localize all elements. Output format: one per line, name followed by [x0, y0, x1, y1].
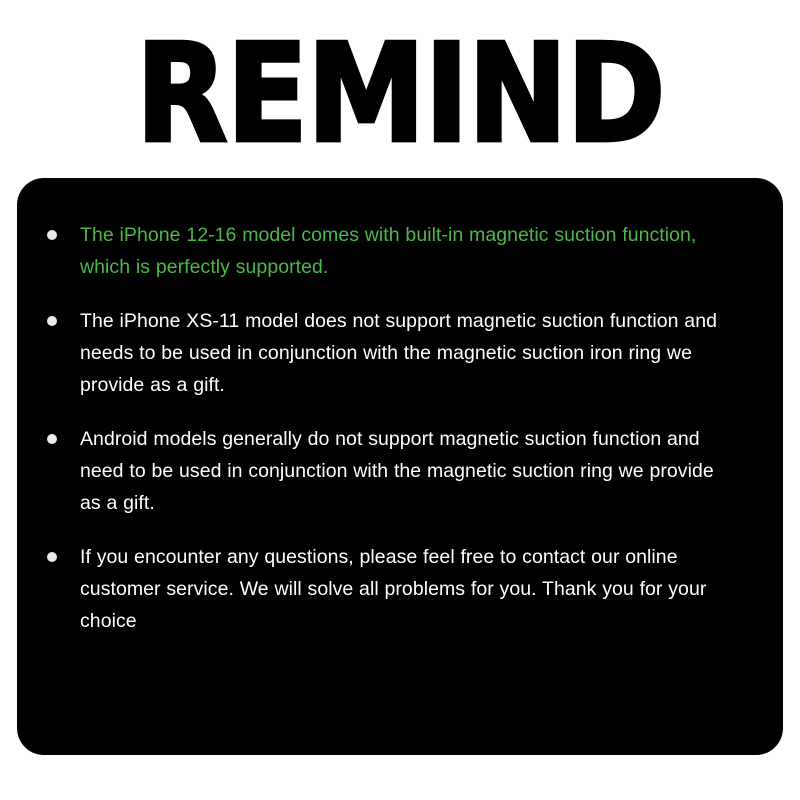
remind-notice-graphic: REMIND The iPhone 12-16 model comes with…	[0, 0, 800, 800]
list-item: Android models generally do not support …	[17, 423, 783, 519]
filled-circle-bullet-icon	[47, 552, 57, 562]
page-title: REMIND	[136, 45, 665, 145]
page-title-container: REMIND	[0, 30, 800, 160]
notice-text-support-contact: If you encounter any questions, please f…	[80, 541, 740, 637]
list-item: The iPhone XS-11 model does not support …	[17, 305, 783, 401]
filled-circle-bullet-icon	[47, 434, 57, 444]
notice-text-iphone-xs-11: The iPhone XS-11 model does not support …	[80, 305, 740, 401]
filled-circle-bullet-icon	[47, 230, 57, 240]
notice-panel: The iPhone 12-16 model comes with built-…	[17, 178, 783, 755]
notice-text-android: Android models generally do not support …	[80, 423, 740, 519]
notice-list: The iPhone 12-16 model comes with built-…	[17, 178, 783, 637]
list-item: The iPhone 12-16 model comes with built-…	[17, 219, 783, 283]
notice-text-iphone-12-16: The iPhone 12-16 model comes with built-…	[80, 219, 740, 283]
list-item: If you encounter any questions, please f…	[17, 541, 783, 637]
filled-circle-bullet-icon	[47, 316, 57, 326]
